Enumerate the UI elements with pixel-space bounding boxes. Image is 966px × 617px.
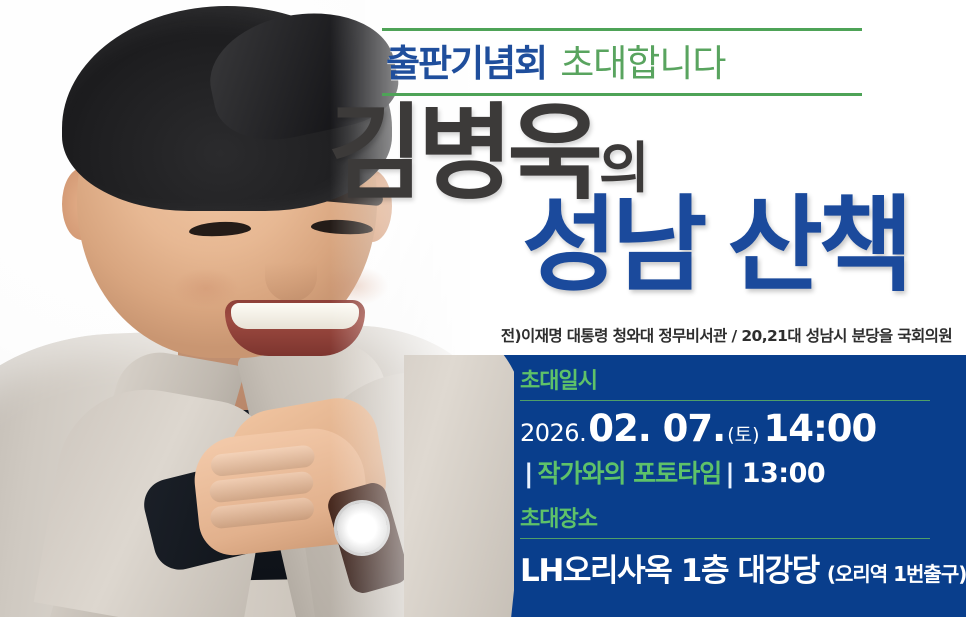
event-info-content: 초대일시 2026. 02. 07. (토) 14:00 | 작가와의 포토타임… <box>520 368 950 596</box>
event-venue-group: 초대장소 LH오리사옥 1층 대강당 (오리역 1번출구) <box>520 506 950 590</box>
event-datetime-group: 초대일시 2026. 02. 07. (토) 14:00 | 작가와의 포토타임… <box>520 368 950 490</box>
event-start-time: 14:00 <box>764 407 877 450</box>
datetime-underline <box>520 400 930 402</box>
phototime-row: | 작가와의 포토타임 | 13:00 <box>520 454 950 490</box>
credential-subtitle: 전)이재명 대통령 청와대 정무비서관 / 20,21대 성남시 분당을 국회의… <box>466 324 952 346</box>
header-kicker-row: 출판기념회 초대합니다 <box>382 31 862 93</box>
event-date: 02. 07. <box>588 407 725 450</box>
phototime-value: 13:00 <box>742 458 825 489</box>
eye-left <box>189 220 252 237</box>
event-day-of-week: (토) <box>727 420 759 447</box>
photo-overlap-shoulder <box>404 355 514 617</box>
event-venue-value: LH오리사옥 1층 대강당 (오리역 1번출구) <box>520 545 950 590</box>
datetime-label: 초대일시 <box>520 368 950 396</box>
kicker-invite-text: 초대합니다 <box>560 45 725 82</box>
event-year: 2026. <box>520 419 586 447</box>
title-walk: 산책 <box>727 196 908 296</box>
event-poster: 출판기념회 초대합니다 김병욱 의 성남 산책 전)이재명 대통령 청와대 정무… <box>0 0 966 617</box>
phototime-pipe-left: | <box>524 459 534 489</box>
header-kicker: 출판기념회 초대합니다 <box>382 28 862 96</box>
title-line-subject: 성남 산책 <box>522 196 909 296</box>
venue-directions: (오리역 1번출구) <box>827 558 966 587</box>
venue-name: LH오리사옥 1층 대강당 <box>520 545 819 590</box>
venue-label: 초대장소 <box>520 506 950 534</box>
main-title: 김병욱 의 성남 산책 <box>300 104 960 314</box>
title-city: 성남 <box>522 196 701 296</box>
phototime-label: 작가와의 포토타임 <box>538 454 722 490</box>
event-datetime-value: 2026. 02. 07. (토) 14:00 <box>520 407 950 450</box>
venue-underline <box>520 538 930 540</box>
phototime-pipe-right: | <box>725 459 735 489</box>
kicker-badge-text: 출판기념회 <box>386 45 546 82</box>
